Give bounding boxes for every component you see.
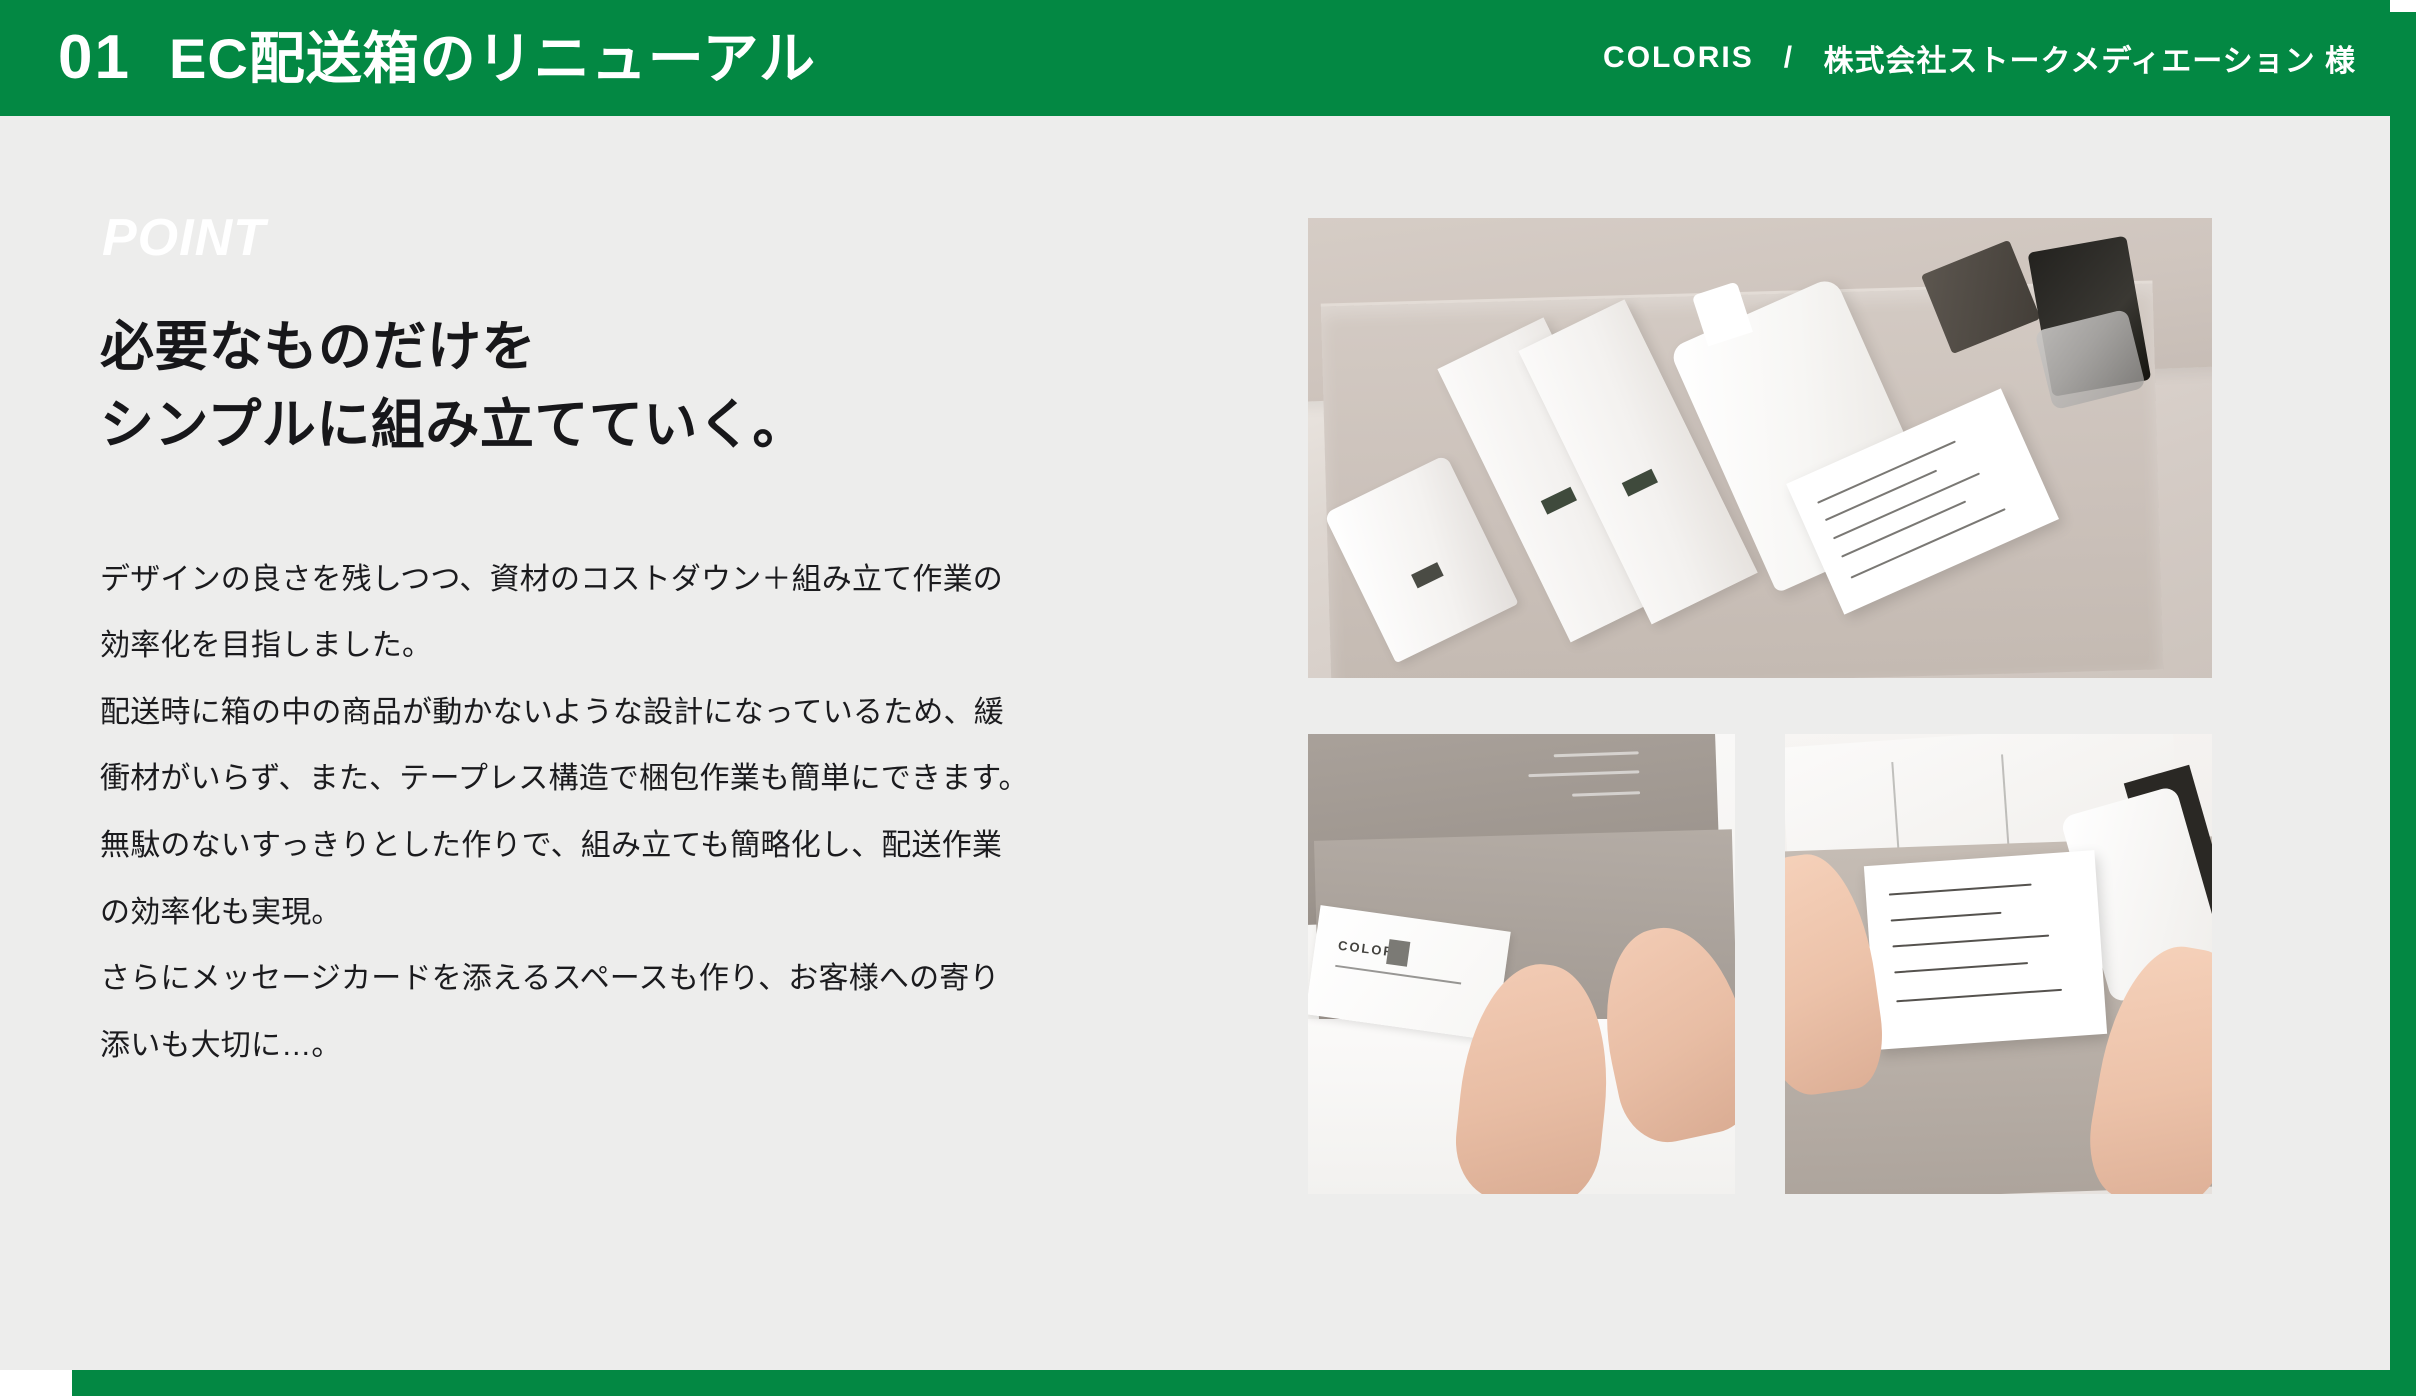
body-paragraph: デザインの良さを残しつつ、資材のコストダウン＋組み立て作業の 効率化を目指しまし… <box>100 547 1140 1080</box>
slide-root: 01 EC配送箱のリニューアル COLORIS / 株式会社ストークメディエーシ… <box>0 0 2416 1396</box>
page-title: EC配送箱のリニューアル <box>169 31 816 87</box>
slide-header: 01 EC配送箱のリニューアル COLORIS / 株式会社ストークメディエーシ… <box>0 0 2400 116</box>
lead-line-2: シンプルに組み立てていく。 <box>100 386 1200 464</box>
frame-right-bar <box>2390 0 2416 1396</box>
brand-name: COLORIS <box>1603 41 1754 75</box>
photo-kit-box-contents <box>1308 218 2212 678</box>
body-line-4: 衝材がいらず、また、テープレス構造で梱包作業も簡単にできます。 <box>100 746 1140 813</box>
photo-column: COLORIS <box>1308 218 2212 1194</box>
photo-message-card <box>1785 734 2212 1194</box>
slide-body: POINT 必要なものだけを シンプルに組み立てていく。 デザインの良さを残しつ… <box>0 116 2390 1370</box>
corner-notch-top-right <box>2390 0 2416 12</box>
card-line <box>1842 500 1967 557</box>
point-label: POINT <box>102 212 1200 264</box>
print-line <box>1572 792 1640 797</box>
lead-line-1: 必要なものだけを <box>100 308 1200 386</box>
print-line <box>1553 751 1638 757</box>
message-card <box>1864 850 2107 1050</box>
client-name: 株式会社ストークメディエーション 様 <box>1824 36 2356 80</box>
header-left-group: 01 EC配送箱のリニューアル <box>58 27 816 89</box>
card-line <box>1889 884 2032 896</box>
slide-number: 01 <box>58 27 131 89</box>
corner-notch-bottom-left <box>0 1370 72 1396</box>
body-line-8: 添いも大切に…。 <box>100 1013 1140 1080</box>
card-line <box>1893 935 2050 948</box>
flap-tagline <box>1335 965 1461 985</box>
card-line <box>1897 989 2063 1003</box>
header-client-group: COLORIS / 株式会社ストークメディエーション 様 <box>1603 36 2356 80</box>
body-line-6: の効率化も実現。 <box>100 880 1140 947</box>
photo-row: COLORIS <box>1308 734 2212 1194</box>
body-line-1: デザインの良さを残しつつ、資材のコストダウン＋組み立て作業の <box>100 547 1140 614</box>
body-line-7: さらにメッセージカードを添えるスペースも作り、お客様への寄り <box>100 946 1140 1013</box>
body-line-2: 効率化を目指しました。 <box>100 613 1140 680</box>
lead-heading: 必要なものだけを シンプルに組み立てていく。 <box>100 308 1200 465</box>
card-line <box>1891 912 2002 922</box>
body-line-3: 配送時に箱の中の商品が動かないような設計になっているため、緩 <box>100 680 1140 747</box>
logo-swatch <box>1386 939 1410 966</box>
frame-bottom-bar <box>0 1370 2416 1396</box>
print-line <box>1528 770 1639 777</box>
card-line <box>1825 470 1937 522</box>
card-line <box>1895 962 2029 973</box>
text-column: POINT 必要なものだけを シンプルに組み立てていく。 デザインの良さを残しつ… <box>100 212 1200 1079</box>
photo-box-assembly: COLORIS <box>1308 734 1735 1194</box>
header-separator: / <box>1784 41 1794 75</box>
body-line-5: 無駄のないすっきりとした作りで、組み立ても簡略化し、配送作業 <box>100 813 1140 880</box>
